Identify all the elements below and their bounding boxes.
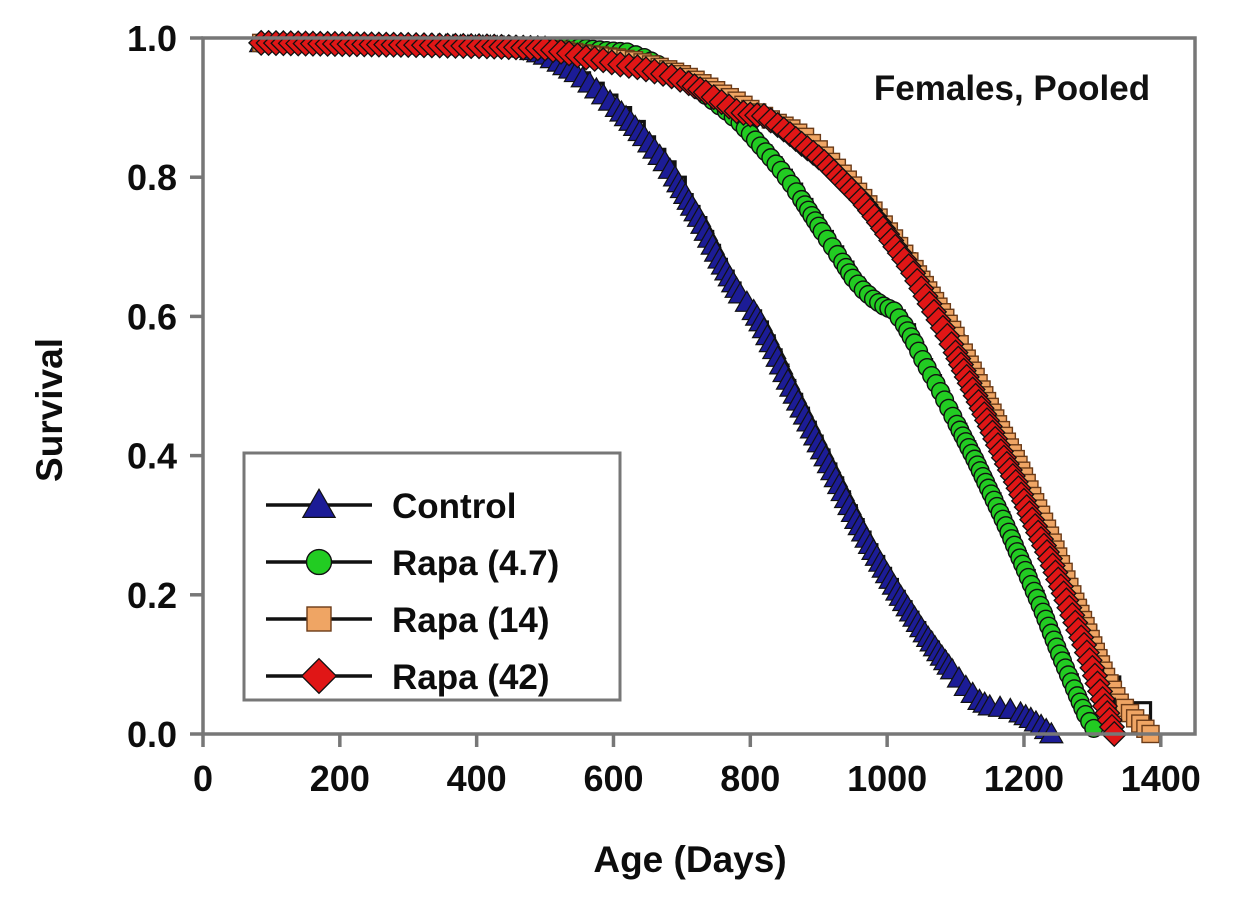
x-axis-title: Age (Days) <box>593 839 786 880</box>
x-tick-label: 600 <box>583 758 643 799</box>
legend-label: Control <box>392 487 516 526</box>
legend-item-rapa-42[interactable]: Rapa (42) <box>248 650 616 702</box>
survival-plot-svg: 02004006008001000120014000.00.20.40.60.8… <box>0 0 1260 902</box>
y-tick-label: 0.6 <box>127 296 177 337</box>
y-tick-label: 0.2 <box>127 575 177 616</box>
y-tick-label: 0.8 <box>127 157 177 198</box>
plot-annotation: Females, Pooled <box>874 69 1150 108</box>
legend-item-control[interactable]: Control <box>248 479 616 531</box>
legend-label: Rapa (4.7) <box>392 544 559 583</box>
x-tick-label: 400 <box>447 758 507 799</box>
x-tick-label: 1000 <box>847 758 927 799</box>
legend-label: Rapa (14) <box>392 601 550 640</box>
legend[interactable]: ControlRapa (4.7)Rapa (14)Rapa (42) <box>244 453 620 702</box>
legend-item-rapa-4-7[interactable]: Rapa (4.7) <box>248 536 616 588</box>
y-tick-label: 1.0 <box>127 18 177 59</box>
chart-figure: 02004006008001000120014000.00.20.40.60.8… <box>0 0 1260 902</box>
legend-item-rapa-14[interactable]: Rapa (14) <box>248 593 616 645</box>
x-tick-label: 1400 <box>1121 758 1201 799</box>
x-tick-label: 200 <box>310 758 370 799</box>
legend-marker-square-icon <box>307 607 331 631</box>
x-tick-label: 0 <box>193 758 213 799</box>
y-tick-label: 0.0 <box>127 714 177 755</box>
legend-label: Rapa (42) <box>392 658 550 697</box>
x-tick-label: 800 <box>720 758 780 799</box>
y-axis-title: Survival <box>29 338 70 482</box>
x-tick-label: 1200 <box>984 758 1064 799</box>
legend-marker-circle-icon <box>307 550 332 575</box>
y-tick-label: 0.4 <box>127 436 177 477</box>
